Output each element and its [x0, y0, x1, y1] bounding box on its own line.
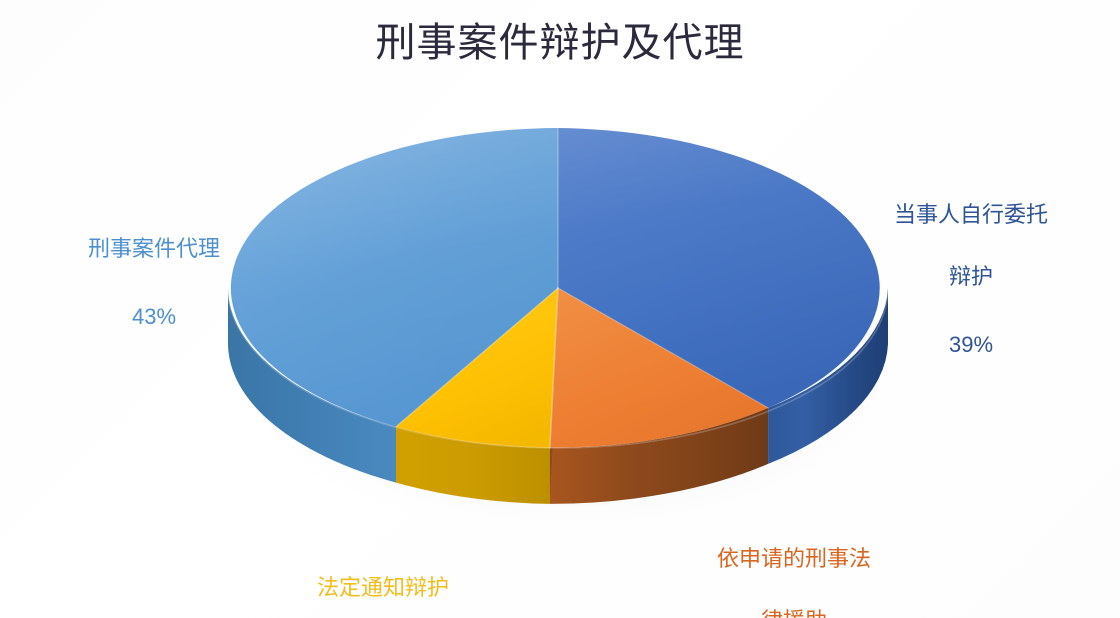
chart-canvas: 刑事案件辩护及代理 [0, 0, 1120, 618]
pie-label-statutory-notice: 法定通知辩护 7% [268, 541, 498, 618]
pie-label-name: 刑事案件代理 [36, 233, 272, 264]
pie-label-name: 依申请的刑事法 [676, 543, 912, 574]
pie-label-name-line2: 律援助 [676, 605, 912, 618]
pie-label-name: 当事人自行委托 [846, 199, 1096, 230]
pie-label-name-line2: 辩护 [846, 261, 1096, 292]
pie-label-percent: 39% [846, 329, 1096, 360]
pie-label-legal-aid: 依申请的刑事法 律援助 11% [676, 512, 912, 618]
pie-label-client-entrusted: 当事人自行委托 辩护 39% [846, 168, 1096, 391]
pie-label-percent: 43% [36, 301, 272, 332]
pie-label-criminal-agency: 刑事案件代理 43% [36, 202, 272, 363]
pie-label-name: 法定通知辩护 [268, 572, 498, 603]
